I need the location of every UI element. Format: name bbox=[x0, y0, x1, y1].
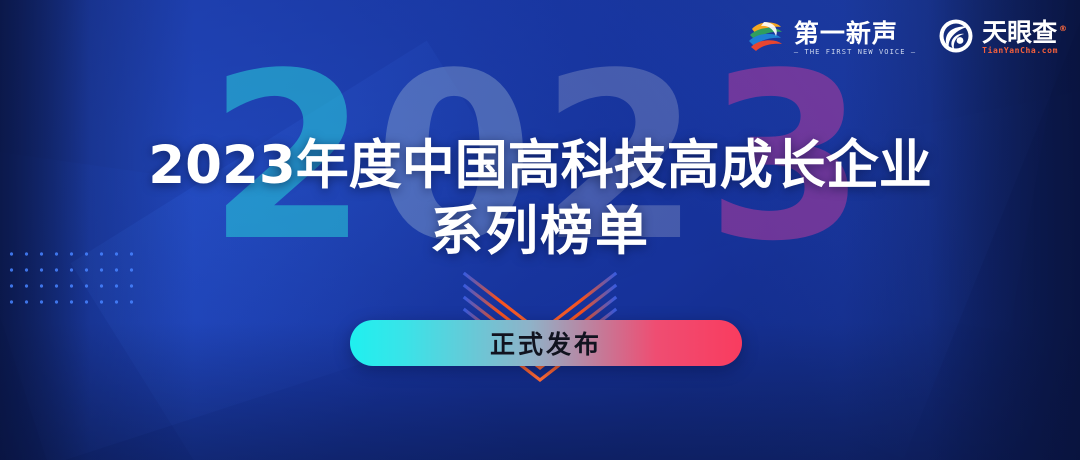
promo-banner: 2023 2023年度中国高科技高成长企 bbox=[0, 0, 1080, 460]
tianyancha-mark-icon bbox=[938, 18, 974, 59]
tianyancha-cn-label: 天眼查 ® bbox=[982, 20, 1058, 45]
diyixinsheng-text-block: 第一新声 — THE FIRST NEW VOICE — bbox=[794, 20, 916, 57]
tianyancha-text-block: 天眼查 ® TianYanCha.com bbox=[982, 20, 1058, 56]
release-pill-label: 正式发布 bbox=[490, 325, 602, 361]
title-line-2: 系列榜单 bbox=[0, 197, 1080, 267]
banner-title: 2023年度中国高科技高成长企业 系列榜单 bbox=[0, 135, 1080, 267]
tianyancha-logo[interactable]: 天眼查 ® TianYanCha.com bbox=[938, 18, 1058, 59]
diyixinsheng-en-label: — THE FIRST NEW VOICE — bbox=[794, 47, 916, 57]
diyixinsheng-mark-icon bbox=[746, 18, 786, 59]
tianyancha-cn-text: 天眼查 bbox=[982, 18, 1057, 47]
logo-group: 第一新声 — THE FIRST NEW VOICE — 天眼查 ® TianY… bbox=[746, 16, 1058, 60]
trademark-icon: ® bbox=[1059, 16, 1067, 41]
title-line-1: 2023年度中国高科技高成长企业 bbox=[0, 135, 1080, 197]
release-pill-button[interactable]: 正式发布 bbox=[350, 320, 742, 366]
diyixinsheng-logo[interactable]: 第一新声 — THE FIRST NEW VOICE — bbox=[746, 18, 916, 59]
diyixinsheng-cn-label: 第一新声 bbox=[794, 20, 916, 47]
